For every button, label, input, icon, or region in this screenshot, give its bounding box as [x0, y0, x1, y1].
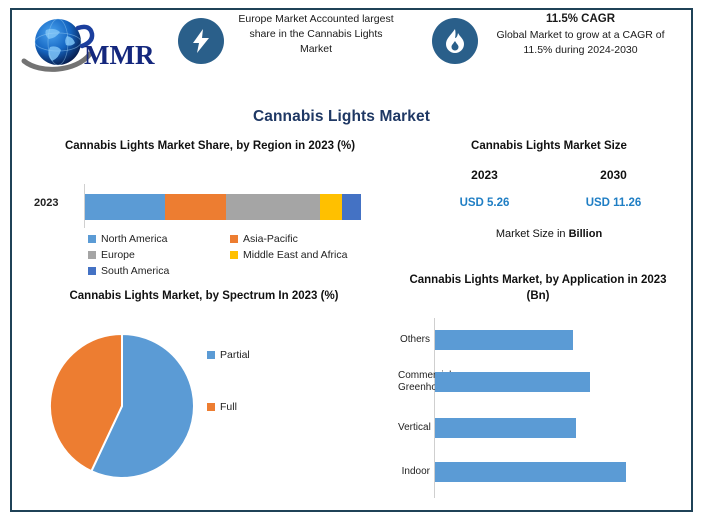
- spectrum-legend-label: Full: [220, 400, 237, 414]
- region-legend-item: Middle East and Africa: [230, 248, 408, 262]
- region-stack-bar: [85, 194, 361, 220]
- globe-swoosh-icon: MMR: [20, 14, 165, 76]
- region-legend: North AmericaAsia-PacificEuropeMiddle Ea…: [88, 232, 408, 278]
- market-size-panel: Cannabis Lights Market Size 2023 2030 US…: [420, 138, 678, 258]
- region-segment-1: [165, 194, 226, 220]
- region-stacked-bar-chart: 2023: [14, 184, 406, 228]
- header-card-europe: Europe Market Accounted largest share in…: [178, 12, 396, 64]
- region-legend-label: Asia-Pacific: [243, 232, 298, 246]
- region-segment-0: [85, 194, 165, 220]
- region-segment-2: [226, 194, 320, 220]
- market-size-note-prefix: Market Size in: [496, 228, 569, 240]
- spectrum-legend-label: Partial: [220, 348, 250, 362]
- region-legend-item: North America: [88, 232, 230, 246]
- market-size-years: 2023 2030: [420, 168, 678, 182]
- application-bar-label: Indoor: [398, 466, 434, 478]
- application-bar: [435, 330, 573, 350]
- application-bar-label: Vertical: [398, 422, 434, 434]
- region-share-panel: Cannabis Lights Market Share, by Region …: [14, 138, 406, 286]
- legend-swatch-icon: [230, 251, 238, 259]
- header-card-cagr: 11.5% CAGR Global Market to grow at a CA…: [432, 12, 673, 64]
- cagr-body: Global Market to grow at a CAGR of 11.5%…: [496, 29, 664, 56]
- region-segment-4: [342, 194, 361, 220]
- header-card-europe-text: Europe Market Accounted largest share in…: [236, 12, 396, 57]
- spectrum-legend-item: Partial: [207, 348, 317, 362]
- region-legend-item: South America: [88, 264, 230, 278]
- application-bar: [435, 462, 626, 482]
- application-bar-row: Vertical: [398, 418, 678, 438]
- region-legend-item: Europe: [88, 248, 230, 262]
- cagr-headline: 11.5% CAGR: [488, 12, 673, 27]
- market-size-values: USD 5.26 USD 11.26: [420, 197, 678, 209]
- region-legend-label: North America: [101, 232, 168, 246]
- mmr-logo: MMR: [20, 14, 165, 76]
- region-segment-3: [320, 194, 342, 220]
- region-legend-label: Europe: [101, 248, 135, 262]
- market-size-value-2030: USD 11.26: [559, 197, 669, 209]
- lightning-bolt-icon: [178, 18, 224, 64]
- region-legend-item: Asia-Pacific: [230, 232, 408, 246]
- infographic-canvas: MMR Europe Market Accounted largest shar…: [0, 0, 703, 523]
- application-bar-label: Others: [398, 334, 434, 346]
- region-chart-title: Cannabis Lights Market Share, by Region …: [14, 138, 406, 154]
- header-band: MMR Europe Market Accounted largest shar…: [12, 10, 671, 88]
- header-card-cagr-text: 11.5% CAGR Global Market to grow at a CA…: [488, 12, 673, 58]
- market-size-year-2030: 2030: [559, 168, 669, 182]
- spectrum-chart-title: Cannabis Lights Market, by Spectrum In 2…: [14, 288, 394, 304]
- legend-swatch-icon: [230, 235, 238, 243]
- market-size-note-unit: Billion: [569, 228, 603, 240]
- application-chart-title: Cannabis Lights Market, by Application i…: [398, 272, 678, 304]
- legend-swatch-icon: [207, 351, 215, 359]
- legend-swatch-icon: [88, 267, 96, 275]
- region-legend-label: South America: [101, 264, 169, 278]
- region-legend-label: Middle East and Africa: [243, 248, 347, 262]
- spectrum-panel: Cannabis Lights Market, by Spectrum In 2…: [14, 288, 394, 513]
- application-bar: [435, 372, 590, 392]
- legend-swatch-icon: [88, 251, 96, 259]
- spectrum-pie-chart: [49, 333, 195, 479]
- legend-swatch-icon: [207, 403, 215, 411]
- legend-swatch-icon: [88, 235, 96, 243]
- market-size-value-2023: USD 5.26: [430, 197, 540, 209]
- application-bar-row: Indoor: [398, 462, 678, 482]
- spectrum-legend: PartialFull: [207, 348, 317, 452]
- market-size-title: Cannabis Lights Market Size: [420, 138, 678, 154]
- application-panel: Cannabis Lights Market, by Application i…: [398, 272, 678, 512]
- application-bar-chart: OthersCommercial GreenhouseVerticalIndoo…: [398, 318, 678, 503]
- spectrum-legend-item: Full: [207, 400, 317, 414]
- application-bar-label: Commercial Greenhouse: [398, 370, 434, 394]
- application-bar-row: Commercial Greenhouse: [398, 372, 678, 392]
- application-bar: [435, 418, 576, 438]
- page-title: Cannabis Lights Market: [0, 108, 683, 126]
- market-size-note: Market Size in Billion: [420, 228, 678, 240]
- application-bar-row: Others: [398, 330, 678, 350]
- region-category-label: 2023: [34, 197, 58, 209]
- market-size-year-2023: 2023: [430, 168, 540, 182]
- logo-wordmark: MMR: [84, 40, 155, 70]
- flame-icon: [432, 18, 478, 64]
